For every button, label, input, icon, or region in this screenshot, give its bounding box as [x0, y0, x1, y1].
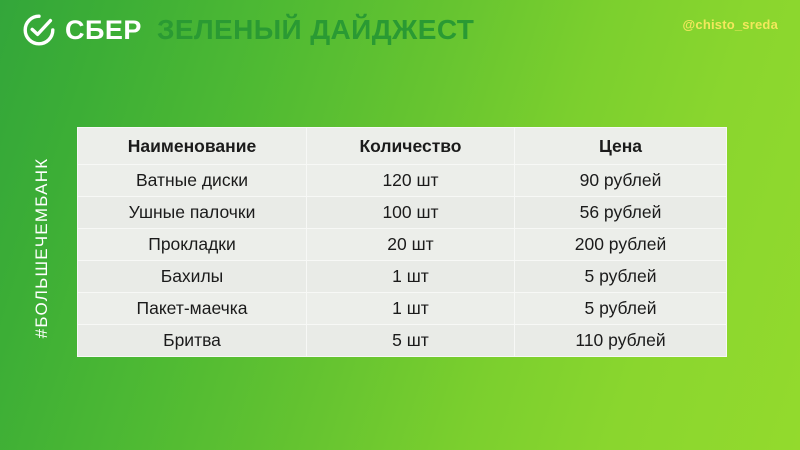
table-row: Прокладки 20 шт 200 рублей [78, 229, 727, 261]
cell-item-price: 56 рублей [515, 197, 727, 229]
table-row: Пакет-маечка 1 шт 5 рублей [78, 293, 727, 325]
cell-item-quantity: 20 шт [307, 229, 515, 261]
cell-item-quantity: 100 шт [307, 197, 515, 229]
column-header-quantity: Количество [307, 128, 515, 165]
cell-item-name: Бахилы [78, 261, 307, 293]
sber-check-circle-icon [22, 13, 56, 47]
cell-item-name: Ватные диски [78, 165, 307, 197]
column-header-price: Цена [515, 128, 727, 165]
header-bar: СБЕР ЗЕЛЕНЫЙ ДАЙДЖЕСТ [22, 10, 474, 50]
cell-item-name: Бритва [78, 325, 307, 357]
page-title: ЗЕЛЕНЫЙ ДАЙДЖЕСТ [157, 16, 474, 44]
cell-item-quantity: 1 шт [307, 293, 515, 325]
cell-item-price: 110 рублей [515, 325, 727, 357]
cell-item-name: Ушные палочки [78, 197, 307, 229]
slide-canvas: СБЕР ЗЕЛЕНЫЙ ДАЙДЖЕСТ @chisto_sreda #БОЛ… [0, 0, 800, 450]
table-row: Ватные диски 120 шт 90 рублей [78, 165, 727, 197]
cell-item-price: 5 рублей [515, 293, 727, 325]
vertical-hashtag: #БОЛЬШЕЧЕМБАНК [32, 123, 52, 373]
table-row: Бритва 5 шт 110 рублей [78, 325, 727, 357]
social-handle: @chisto_sreda [683, 17, 778, 32]
cell-item-quantity: 5 шт [307, 325, 515, 357]
price-table: Наименование Количество Цена Ватные диск… [77, 127, 727, 357]
cell-item-quantity: 120 шт [307, 165, 515, 197]
cell-item-price: 90 рублей [515, 165, 727, 197]
cell-item-name: Прокладки [78, 229, 307, 261]
cell-item-price: 5 рублей [515, 261, 727, 293]
table-row: Бахилы 1 шт 5 рублей [78, 261, 727, 293]
table-row: Ушные палочки 100 шт 56 рублей [78, 197, 727, 229]
sber-wordmark: СБЕР [65, 17, 142, 44]
cell-item-quantity: 1 шт [307, 261, 515, 293]
cell-item-price: 200 рублей [515, 229, 727, 261]
column-header-name: Наименование [78, 128, 307, 165]
table-header-row: Наименование Количество Цена [78, 128, 727, 165]
cell-item-name: Пакет-маечка [78, 293, 307, 325]
